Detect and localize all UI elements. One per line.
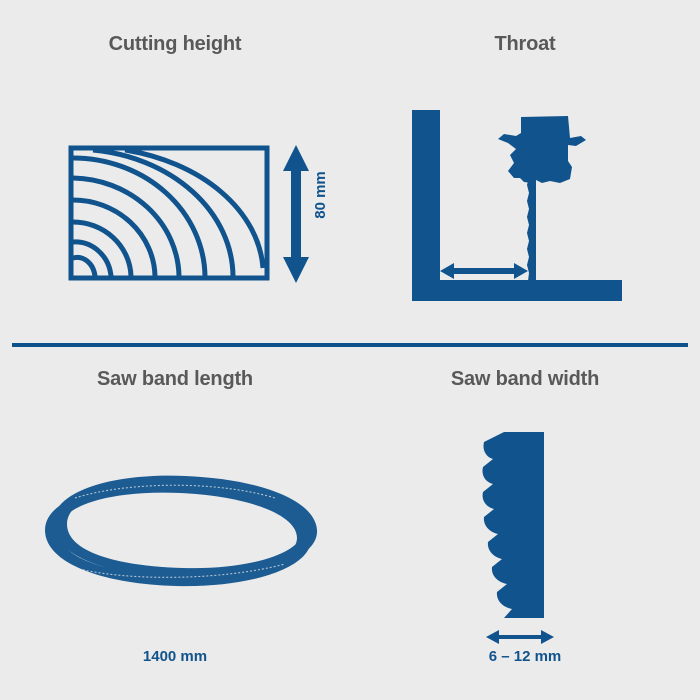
bandsaw-specification-infographic: Cutting height 80 mm Throat (0, 0, 700, 700)
panel-cutting-height: Cutting height 80 mm (0, 0, 350, 350)
measurement-label-saw-band-length: 1400 mm (0, 648, 350, 665)
measurement-label-saw-band-width: 6 – 12 mm (350, 648, 700, 665)
panel-title-cutting-height: Cutting height (0, 33, 350, 56)
measurement-label-cutting-height: 80 mm (312, 171, 329, 219)
panel-saw-band-width: Saw band width 6 – 12 mm (350, 350, 700, 700)
saw-band-toothed-strip-icon (482, 428, 572, 628)
vertical-double-arrow-icon (282, 143, 310, 285)
panel-title-saw-band-width: Saw band width (350, 368, 700, 391)
panel-saw-band-length: Saw band length 1400 mm (0, 350, 350, 700)
wood-block-growth-rings-icon (55, 130, 315, 300)
panel-throat: Throat 200 mm (350, 0, 700, 350)
panel-title-saw-band-length: Saw band length (0, 368, 350, 391)
horizontal-double-arrow-icon (440, 263, 528, 279)
horizontal-double-arrow-icon (484, 628, 556, 646)
bandsaw-frame-blade-icon (410, 105, 640, 305)
coiled-saw-band-loop-icon (35, 468, 330, 598)
section-divider (12, 343, 688, 347)
panel-title-throat: Throat (350, 33, 700, 56)
